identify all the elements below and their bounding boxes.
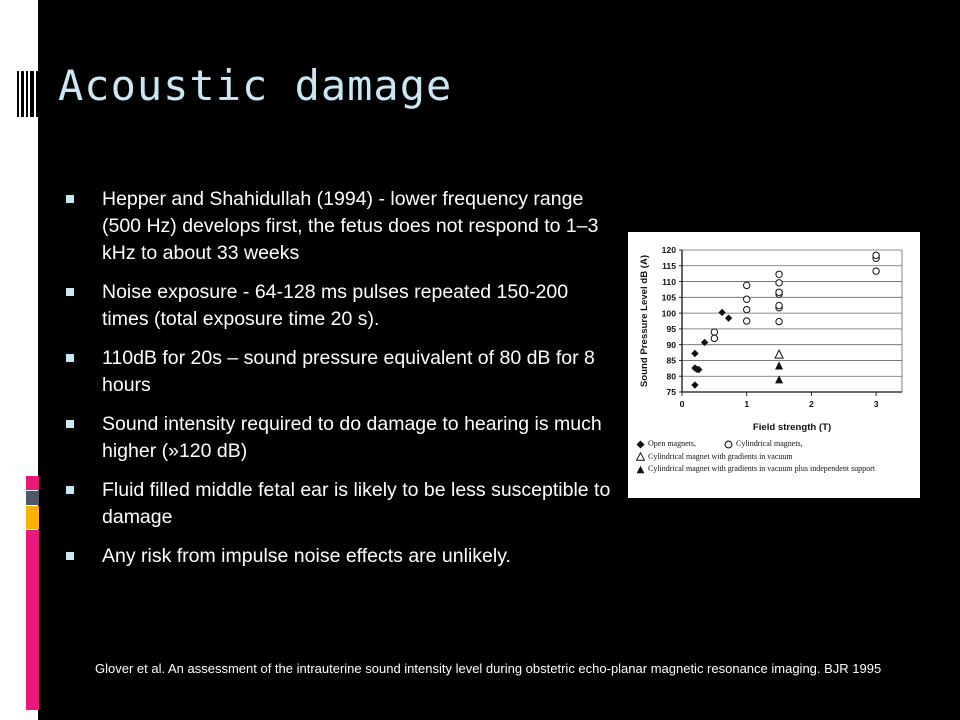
list-item: 110dB for 20s – sound pressure equivalen…: [64, 345, 612, 399]
rail-block-slate: [26, 491, 39, 505]
data-point-open-circle: [744, 296, 750, 302]
list-item: Any risk from impulse noise effects are …: [64, 543, 612, 570]
y-tick-label: 75: [666, 387, 676, 397]
rail-block-pink-long: [26, 530, 39, 710]
legend-label: Cylindrical magnet with gradients in vac…: [647, 463, 875, 476]
data-point-filled-diamond: [691, 350, 698, 357]
bullet-marker-icon: [66, 288, 74, 296]
list-item: Sound intensity required to do damage to…: [64, 411, 612, 465]
y-tick-label: 90: [666, 340, 676, 350]
rail-block-pink-top: [26, 476, 39, 490]
data-point-open-circle: [744, 282, 750, 288]
data-point-open-circle: [711, 335, 717, 341]
bullet-marker-icon: [66, 195, 74, 203]
list-item: Noise exposure - 64-128 ms pulses repeat…: [64, 279, 612, 333]
rail-block-amber: [26, 506, 39, 529]
x-tick-label: 1: [744, 399, 749, 409]
list-item-label: Sound intensity required to do damage to…: [102, 413, 602, 462]
y-tick-label: 95: [666, 324, 676, 334]
data-point-filled-diamond: [691, 381, 698, 388]
legend-row: Cylindrical magnet with gradients in vac…: [634, 463, 918, 476]
data-point-open-circle: [776, 302, 782, 308]
list-item-label: Hepper and Shahidullah (1994) - lower fr…: [102, 188, 598, 264]
y-tick-label: 110: [662, 277, 676, 287]
x-tick-label: 2: [809, 399, 814, 409]
data-point-open-circle: [744, 306, 750, 312]
x-tick-label: 3: [874, 399, 879, 409]
data-point-open-circle: [776, 289, 782, 295]
filled-diamond-icon: [634, 440, 647, 449]
list-item-label: Any risk from impulse noise effects are …: [102, 545, 511, 567]
data-point-open-triangle: [775, 350, 783, 358]
page-title: Acoustic damage: [58, 58, 452, 114]
slide: Acoustic damage Hepper and Shahidullah (…: [0, 0, 960, 720]
scatter-chart: 75808590951001051101151200123Field stren…: [636, 240, 912, 436]
y-tick-label: 100: [662, 308, 677, 318]
data-point-open-circle: [711, 329, 717, 335]
legend-label: Open magnets,: [647, 438, 696, 451]
data-point-open-circle: [744, 318, 750, 324]
bullet-marker-icon: [66, 420, 74, 428]
data-point-filled-diamond: [725, 314, 732, 321]
figure-card: 75808590951001051101151200123Field stren…: [628, 232, 920, 498]
y-axis-label: Sound Pressure Level dB (A): [639, 255, 650, 387]
bullet-list: Hepper and Shahidullah (1994) - lower fr…: [64, 186, 612, 582]
legend-row: Cylindrical magnet with gradients in vac…: [634, 451, 918, 464]
y-tick-label: 80: [666, 371, 676, 381]
filled-triangle-icon: [634, 465, 647, 474]
legend-label: Cylindrical magnets,: [735, 438, 803, 451]
data-point-open-circle: [776, 271, 782, 277]
open-triangle-icon: [634, 452, 647, 461]
citation-text: Glover et al. An assessment of the intra…: [95, 660, 885, 678]
list-item-label: Fluid filled middle fetal ear is likely …: [102, 479, 610, 528]
data-point-open-circle: [873, 252, 879, 258]
x-tick-label: 0: [680, 399, 685, 409]
bullet-marker-icon: [66, 552, 74, 560]
data-point-open-circle: [873, 268, 879, 274]
list-item-label: Noise exposure - 64-128 ms pulses repeat…: [102, 281, 568, 330]
y-tick-label: 120: [662, 245, 677, 255]
x-axis-label: Field strength (T): [753, 422, 831, 433]
data-point-open-circle: [776, 280, 782, 286]
legend-row: Open magnets, Cylindrical magnets,: [634, 438, 918, 451]
list-item: Hepper and Shahidullah (1994) - lower fr…: [64, 186, 612, 267]
bullet-marker-icon: [66, 486, 74, 494]
data-point-filled-diamond: [718, 309, 725, 316]
legend-label: Cylindrical magnet with gradients in vac…: [647, 451, 793, 464]
y-tick-label: 85: [666, 356, 676, 366]
y-tick-label: 105: [662, 293, 677, 303]
data-point-filled-triangle: [775, 361, 783, 369]
chart-legend: Open magnets, Cylindrical magnets, Cylin…: [634, 438, 918, 476]
y-tick-label: 115: [662, 261, 676, 271]
list-item-label: 110dB for 20s – sound pressure equivalen…: [102, 347, 595, 396]
barcode-stripes-icon: [17, 71, 55, 117]
bullet-marker-icon: [66, 354, 74, 362]
chart-canvas: 75808590951001051101151200123Field stren…: [636, 240, 912, 436]
open-circle-icon: [722, 440, 735, 449]
data-point-open-circle: [776, 318, 782, 324]
list-item: Fluid filled middle fetal ear is likely …: [64, 477, 612, 531]
